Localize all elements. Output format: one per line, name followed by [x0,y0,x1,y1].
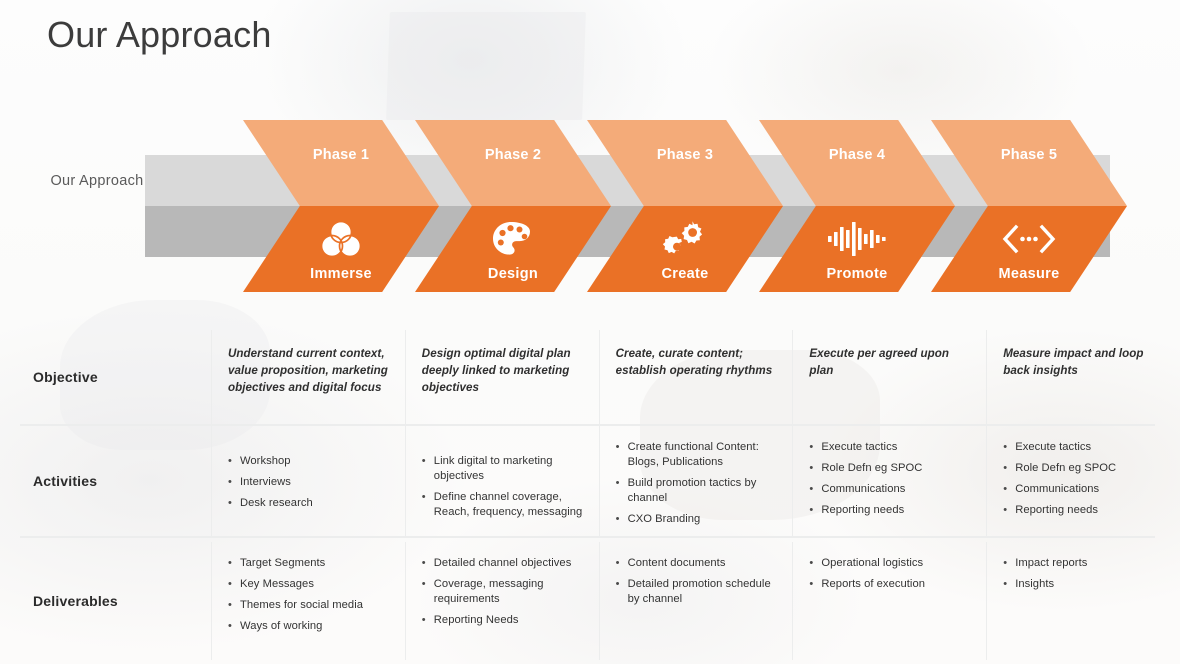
list-item: Desk research [228,496,389,511]
table-cell: Content documentsDetailed promotion sche… [599,542,793,660]
chevron-bottom-half [415,206,611,292]
objective-text: Execute per agreed upon plan [809,346,970,380]
table-cell: Create, curate content; establish operat… [599,330,793,424]
chevron-top-half [931,120,1127,206]
table-cell: Design optimal digital plan deeply linke… [405,330,599,424]
list-item: Workshop [228,454,389,469]
phase-chevron-1[interactable] [243,120,439,292]
chevron-top-half [243,120,439,206]
row-divider [20,536,1155,538]
row-label-activities: Activities [0,426,211,536]
bullet-list: Execute tacticsRole Defn eg SPOCCommunic… [809,440,970,518]
phase-chevron-3[interactable] [587,120,783,292]
list-item: Themes for social media [228,598,389,613]
bullet-list: Operational logisticsReports of executio… [809,556,970,592]
table-row: Activities WorkshopInterviewsDesk resear… [0,426,1180,536]
chevron-top-half [587,120,783,206]
chevron-bottom-half [243,206,439,292]
phase-chevron-5[interactable] [931,120,1127,292]
table-cell: Execute tacticsRole Defn eg SPOCCommunic… [792,426,986,536]
bullet-list: Create functional Content: Blogs, Public… [616,440,777,527]
table-cell: WorkshopInterviewsDesk research [211,426,405,536]
list-item: Ways of working [228,619,389,634]
table-row: Deliverables Target SegmentsKey Messages… [0,542,1180,660]
table-cell: Measure impact and loop back insights [986,330,1180,424]
objective-text: Design optimal digital plan deeply linke… [422,346,583,397]
bullet-list: Execute tacticsRole Defn eg SPOCCommunic… [1003,440,1164,518]
list-item: Execute tactics [1003,440,1164,455]
list-item: Create functional Content: Blogs, Public… [616,440,777,470]
list-item: Insights [1003,577,1164,592]
chevron-top-half [759,120,955,206]
list-item: Impact reports [1003,556,1164,571]
list-item: Reporting needs [809,503,970,518]
row-label-deliverables: Deliverables [0,542,211,660]
table-cell: Understand current context, value propos… [211,330,405,424]
list-item: Target Segments [228,556,389,571]
bullet-list: WorkshopInterviewsDesk research [228,454,389,511]
table-row: Objective Understand current context, va… [0,330,1180,424]
list-item: CXO Branding [616,512,777,527]
objective-text: Measure impact and loop back insights [1003,346,1164,380]
list-item: Role Defn eg SPOC [1003,461,1164,476]
objective-text: Create, curate content; establish operat… [616,346,777,380]
list-item: Define channel coverage, Reach, frequenc… [422,490,583,520]
list-item: Link digital to marketing objectives [422,454,583,484]
row-label-objective: Objective [0,330,211,424]
list-item: Key Messages [228,577,389,592]
table-cell: Link digital to marketing objectivesDefi… [405,426,599,536]
bullet-list: Detailed channel objectivesCoverage, mes… [422,556,583,628]
banner-label: Our Approach [22,155,172,206]
chevron-top-half [415,120,611,206]
list-item: Reports of execution [809,577,970,592]
table-cell: Execute per agreed upon plan [792,330,986,424]
list-item: Content documents [616,556,777,571]
table-cell: Operational logisticsReports of executio… [792,542,986,660]
table-cell: Create functional Content: Blogs, Public… [599,426,793,536]
list-item: Role Defn eg SPOC [809,461,970,476]
table-cell: Detailed channel objectivesCoverage, mes… [405,542,599,660]
objective-text: Understand current context, value propos… [228,346,389,397]
bullet-list: Link digital to marketing objectivesDefi… [422,454,583,520]
table-cell: Target SegmentsKey MessagesThemes for so… [211,542,405,660]
list-item: Communications [809,482,970,497]
bullet-list: Impact reportsInsights [1003,556,1164,592]
chevron-bottom-half [759,206,955,292]
list-item: Reporting needs [1003,503,1164,518]
chevron-bottom-half [587,206,783,292]
phase-chevron-4[interactable] [759,120,955,292]
background-laptop-shape [386,12,586,120]
list-item: Execute tactics [809,440,970,455]
slide-canvas: Our Approach Our Approach Phase 1 [0,0,1180,664]
process-banner: Our Approach Phase 1 Immerse [0,112,1180,302]
chevron-bottom-half [931,206,1127,292]
list-item: Build promotion tactics by channel [616,476,777,506]
list-item: Coverage, messaging requirements [422,577,583,607]
list-item: Communications [1003,482,1164,497]
bullet-list: Content documentsDetailed promotion sche… [616,556,777,607]
list-item: Interviews [228,475,389,490]
table-cell: Impact reportsInsights [986,542,1180,660]
list-item: Operational logistics [809,556,970,571]
list-item: Detailed channel objectives [422,556,583,571]
list-item: Detailed promotion schedule by channel [616,577,777,607]
phase-chevron-2[interactable] [415,120,611,292]
table-cell: Execute tacticsRole Defn eg SPOCCommunic… [986,426,1180,536]
page-title: Our Approach [47,14,272,56]
approach-table: Objective Understand current context, va… [0,330,1180,660]
bullet-list: Target SegmentsKey MessagesThemes for so… [228,556,389,634]
list-item: Reporting Needs [422,613,583,628]
